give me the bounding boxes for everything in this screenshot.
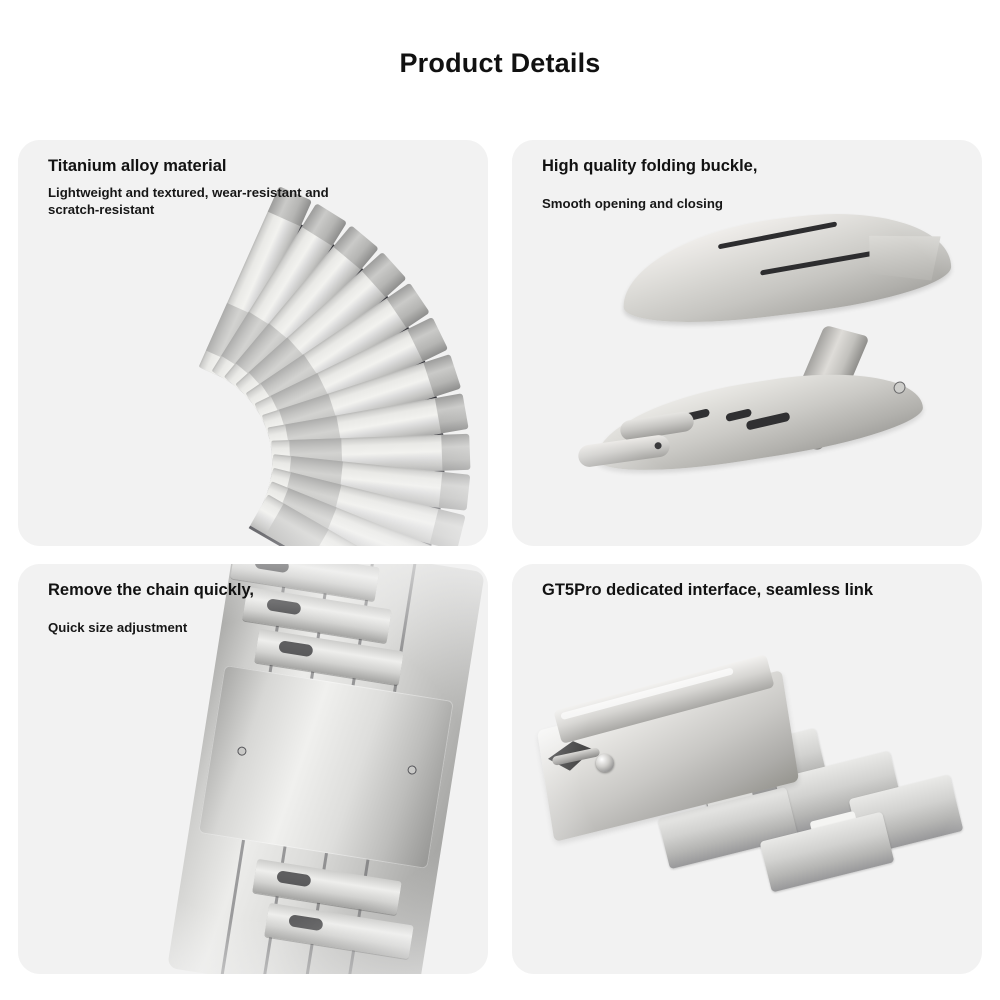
- card-remove-chain-quickly[interactable]: Remove the chain quickly, Quick size adj…: [18, 564, 488, 974]
- clasp-cover-plate: [198, 665, 454, 869]
- gt5pro-connector-image: [512, 564, 982, 974]
- product-details-page: Product Details Titanium alloy: [0, 0, 1000, 1000]
- card-heading: Titanium alloy material: [48, 156, 348, 177]
- buckle-top-plate: [622, 198, 951, 335]
- quick-release-ball: [596, 754, 614, 772]
- card-gt5pro-interface[interactable]: GT5Pro dedicated interface, seamless lin…: [512, 564, 982, 974]
- page-title: Product Details: [0, 48, 1000, 79]
- card-folding-buckle[interactable]: High quality folding buckle, Smooth open…: [512, 140, 982, 546]
- folding-buckle-image: [512, 140, 982, 546]
- detail-card-grid: Titanium alloy material Lightweight and …: [18, 140, 982, 974]
- titanium-bracelet-image: [78, 182, 488, 546]
- card-titanium-alloy-material[interactable]: Titanium alloy material Lightweight and …: [18, 140, 488, 546]
- clasp-closeup-image: [18, 564, 488, 974]
